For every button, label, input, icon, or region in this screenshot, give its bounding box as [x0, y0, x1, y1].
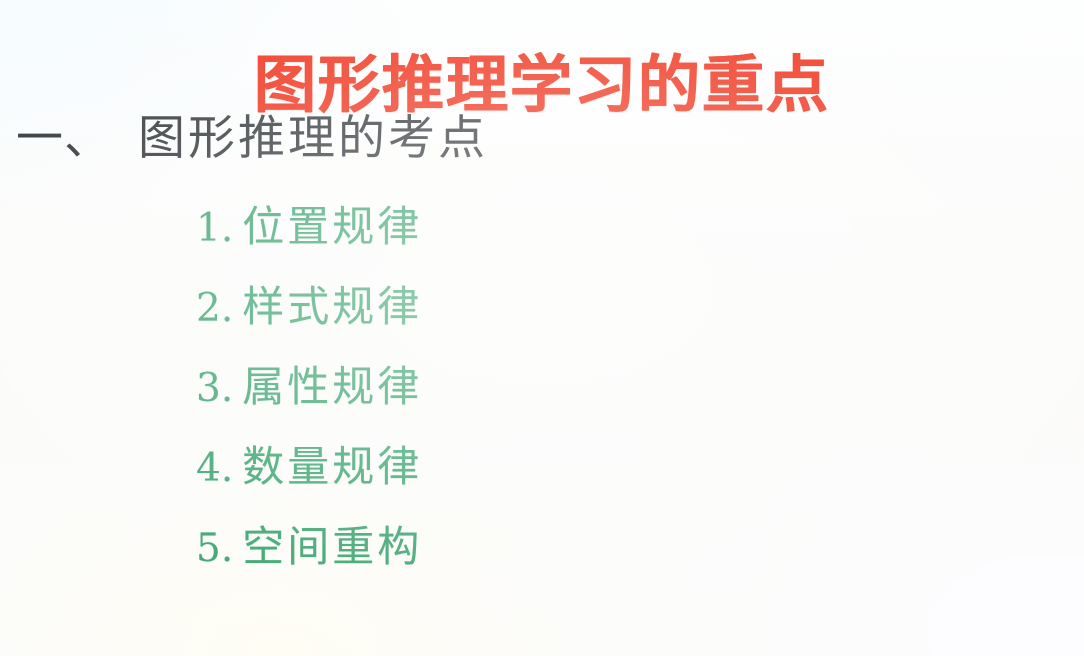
page-title: 图形推理学习的重点	[254, 50, 830, 119]
list-item-index: 4.	[196, 449, 233, 488]
list-item-index: 5.	[196, 529, 233, 568]
list-item-index: 1.	[196, 209, 233, 248]
exam-points-list: 1. 位置规律 2. 样式规律 3. 属性规律 4. 数量规律 5. 空间重构	[196, 206, 422, 606]
list-item-label: 数量规律	[242, 446, 422, 488]
list-item-label: 空间重构	[242, 526, 422, 568]
list-item: 1. 位置规律	[196, 206, 422, 286]
section-marker: 一、	[16, 111, 112, 167]
list-item-label: 属性规律	[242, 366, 422, 408]
section-heading: 一、 图形推理的考点	[16, 111, 488, 167]
list-item-index: 3.	[196, 369, 233, 408]
list-item-label: 样式规律	[242, 286, 422, 328]
list-item: 5. 空间重构	[196, 526, 422, 606]
list-item: 4. 数量规律	[196, 446, 422, 526]
list-item: 3. 属性规律	[196, 366, 422, 446]
slide-canvas: 图形推理学习的重点 一、 图形推理的考点 1. 位置规律 2. 样式规律 3. …	[0, 0, 1084, 656]
list-item: 2. 样式规律	[196, 286, 422, 366]
list-item-index: 2.	[196, 289, 233, 328]
list-item-label: 位置规律	[242, 206, 422, 248]
section-heading-label: 图形推理的考点	[138, 111, 488, 167]
